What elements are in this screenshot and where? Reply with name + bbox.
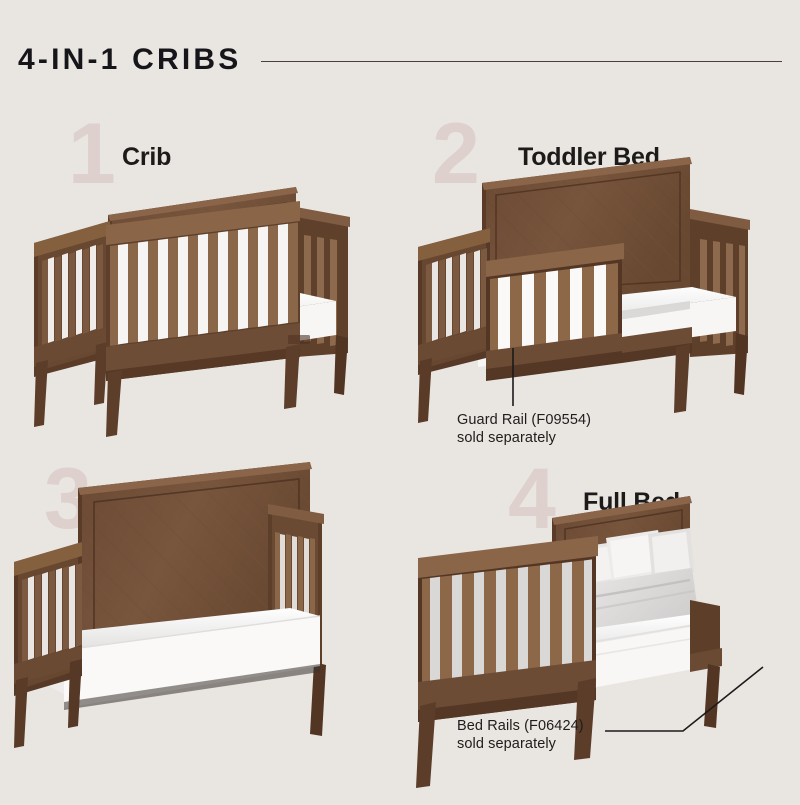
callout-bed-rails: Bed Rails (F06424) sold separately xyxy=(457,718,584,753)
infographic-canvas: 4-IN-1 CRIBS 1 Crib xyxy=(0,0,800,800)
callout-bed-rails-line2: sold separately xyxy=(457,736,584,754)
callout-guard-rail: Guard Rail (F09554) sold separately xyxy=(457,412,591,447)
panel-full-bed-heading: 4 Full Bed xyxy=(0,450,400,542)
page-title: 4-IN-1 CRIBS xyxy=(18,43,241,77)
toddler-bed-illustration xyxy=(400,95,800,450)
callout-bed-rails-line1: Bed Rails (F06424) xyxy=(457,718,584,734)
panel-toddler-bed: 2 Toddler Bed xyxy=(400,95,800,450)
callout-guard-rail-line2: sold separately xyxy=(457,430,591,448)
header: 4-IN-1 CRIBS xyxy=(18,38,782,82)
panel-toddler-bed-heading: 2 Toddler Bed xyxy=(0,95,400,187)
callout-guard-rail-line1: Guard Rail (F09554) xyxy=(457,412,591,428)
header-divider xyxy=(261,61,782,62)
